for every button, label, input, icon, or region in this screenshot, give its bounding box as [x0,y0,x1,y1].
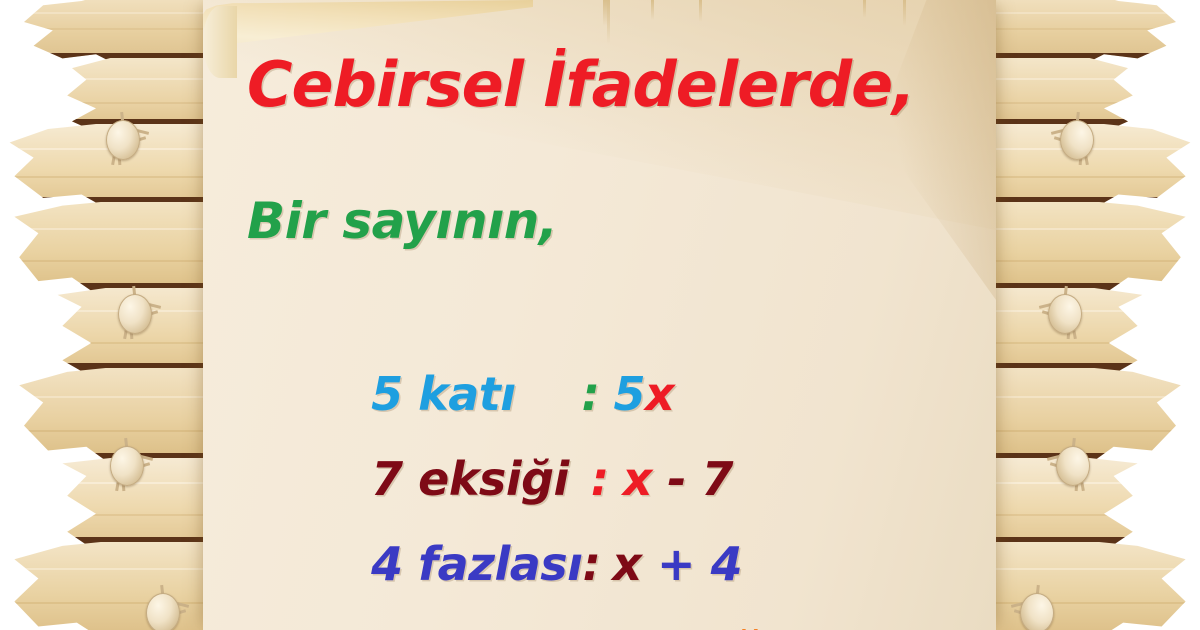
nail-icon [1056,112,1100,164]
nail-icon [112,286,156,338]
parchment-sheet: Cebirsel İfadelerde, Bir sayının, 5 katı… [203,0,996,630]
nail-icon [1044,286,1088,338]
wood-plank [960,542,1200,630]
item-colon: : [776,623,793,630]
subtitle-text: Bir sayının, [247,192,557,250]
list-item: 2katının 3 eksiği:2x-3 [243,568,915,630]
page-title: Cebirsel İfadelerde, [247,48,915,121]
item-tail: -3 [865,623,914,630]
nail-icon [100,112,144,164]
item-variable: x [837,623,866,630]
subtitle: Bir sayının, [247,192,557,250]
poster-canvas: Cebirsel İfadelerde, Bir sayının, 5 katı… [0,0,1200,630]
item-coefficient: 2 [805,623,836,630]
nail-icon [140,585,184,630]
nail-icon [1016,585,1060,630]
wood-plank [960,0,1200,64]
wood-plank [960,202,1200,294]
nail-icon [1052,438,1096,490]
nail-icon [104,438,148,490]
poster-text-content: Cebirsel İfadelerde, Bir sayının, 5 katı… [203,0,996,630]
wood-board-right [960,0,1200,630]
item-label: 2katının 3 eksiği [362,623,776,630]
